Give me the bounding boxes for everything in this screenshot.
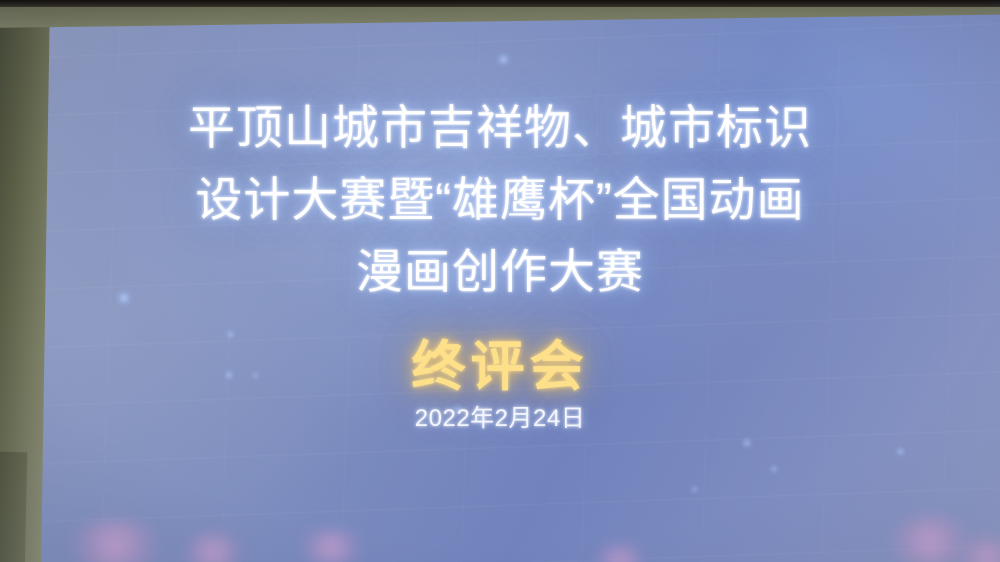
room-ceiling-edge bbox=[0, 0, 1000, 7]
slide-date: 2022年2月24日 bbox=[0, 398, 1000, 433]
slide-title-line-2: 设计大赛暨“雄鹰杯”全国动画 bbox=[0, 164, 1000, 236]
lower-third: 平顶山 新闻联播 记者 贾翼飞 平顶山城市吉祥物、城市标识进入网络投票环节 bbox=[0, 432, 1000, 562]
slide-title: 平顶山城市吉祥物、城市标识 设计大赛暨“雄鹰杯”全国动画 漫画创作大赛 bbox=[0, 92, 1000, 308]
broadcast-frame: 平顶山城市吉祥物、城市标识 设计大赛暨“雄鹰杯”全国动画 漫画创作大赛 终评会 … bbox=[0, 0, 1000, 562]
slide-title-line-1: 平顶山城市吉祥物、城市标识 bbox=[0, 92, 1000, 164]
slide-title-line-3: 漫画创作大赛 bbox=[0, 236, 1000, 308]
slide-subtitle: 终评会 bbox=[0, 322, 1000, 401]
